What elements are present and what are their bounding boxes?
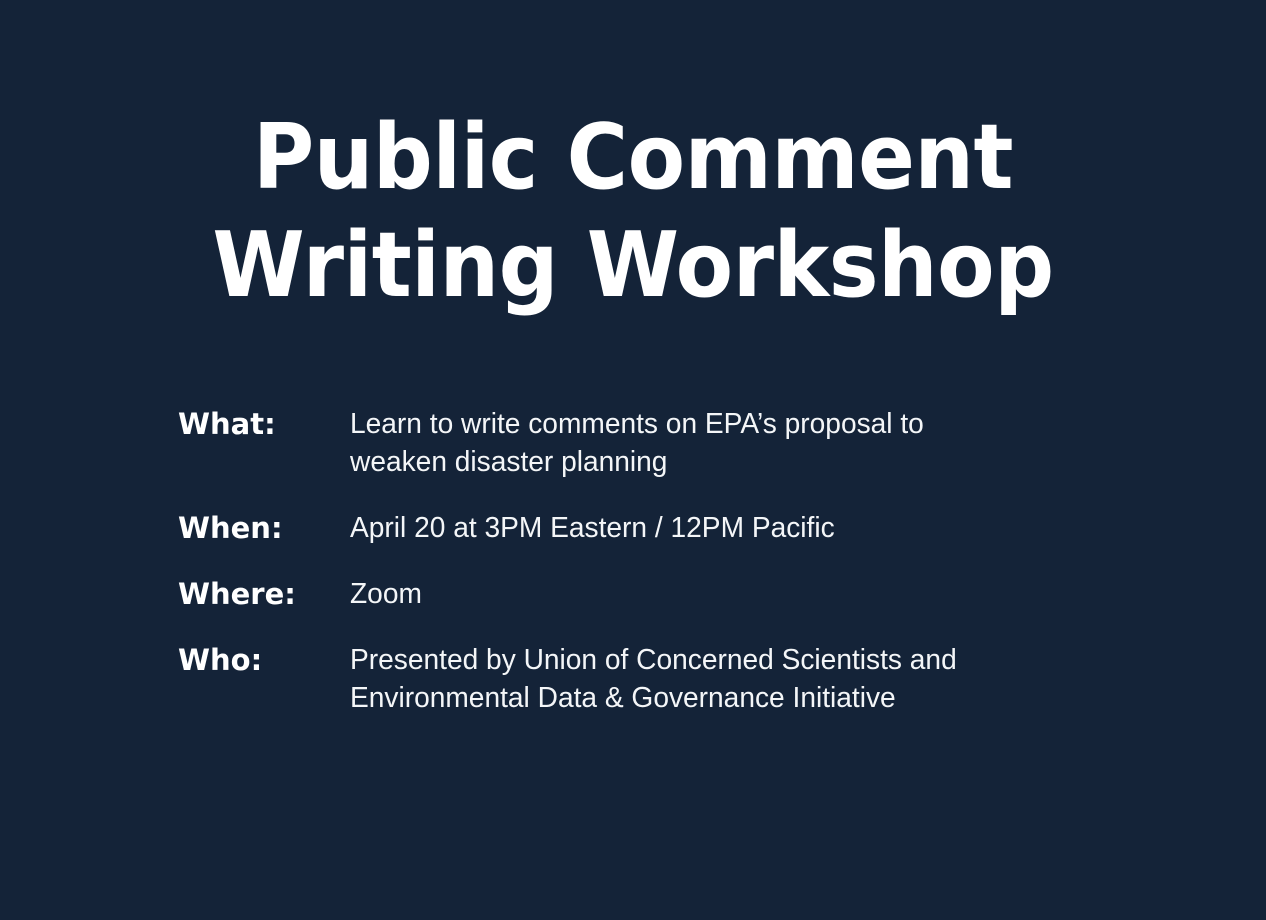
detail-row-what: What: Learn to write comments on EPA’s p…: [178, 405, 1098, 481]
detail-value-who-line-2: Environmental Data & Governance Initiati…: [350, 679, 1076, 717]
detail-value-where: Zoom: [350, 575, 1076, 613]
title-line-1: Public Comment: [44, 104, 1221, 212]
detail-label-when-colon: :: [271, 511, 283, 545]
detail-label-what: What:: [178, 405, 350, 443]
event-announcement-slide: Public Comment Writing Workshop What: Le…: [0, 0, 1266, 920]
detail-value-where-line-1: Zoom: [350, 575, 1076, 613]
detail-value-what-line-1: Learn to write comments on EPA’s proposa…: [350, 405, 1076, 443]
detail-label-when-text: When: [178, 511, 271, 545]
detail-label-what-colon: :: [264, 407, 276, 441]
detail-label-where: Where:: [178, 575, 350, 613]
page-title: Public Comment Writing Workshop: [0, 104, 1266, 320]
detail-row-who: Who: Presented by Union of Concerned Sci…: [178, 641, 1098, 717]
title-line-2: Writing Workshop: [44, 212, 1221, 320]
detail-value-when-line-1: April 20 at 3PM Eastern / 12PM Pacific: [350, 509, 1076, 547]
detail-label-when: When:: [178, 509, 350, 547]
detail-label-where-colon: :: [284, 577, 296, 611]
detail-value-when: April 20 at 3PM Eastern / 12PM Pacific: [350, 509, 1076, 547]
detail-value-what-line-2: weaken disaster planning: [350, 443, 1076, 481]
detail-label-what-text: What: [178, 407, 264, 441]
detail-label-who-text: Who: [178, 643, 251, 677]
detail-row-where: Where: Zoom: [178, 575, 1098, 613]
detail-row-when: When: April 20 at 3PM Eastern / 12PM Pac…: [178, 509, 1098, 547]
event-details-list: What: Learn to write comments on EPA’s p…: [178, 405, 1098, 717]
detail-label-who-colon: :: [251, 643, 263, 677]
detail-value-who-line-1: Presented by Union of Concerned Scientis…: [350, 641, 1076, 679]
detail-value-who: Presented by Union of Concerned Scientis…: [350, 641, 1076, 717]
detail-label-who: Who:: [178, 641, 350, 679]
detail-value-what: Learn to write comments on EPA’s proposa…: [350, 405, 1076, 481]
detail-label-where-text: Where: [178, 577, 284, 611]
